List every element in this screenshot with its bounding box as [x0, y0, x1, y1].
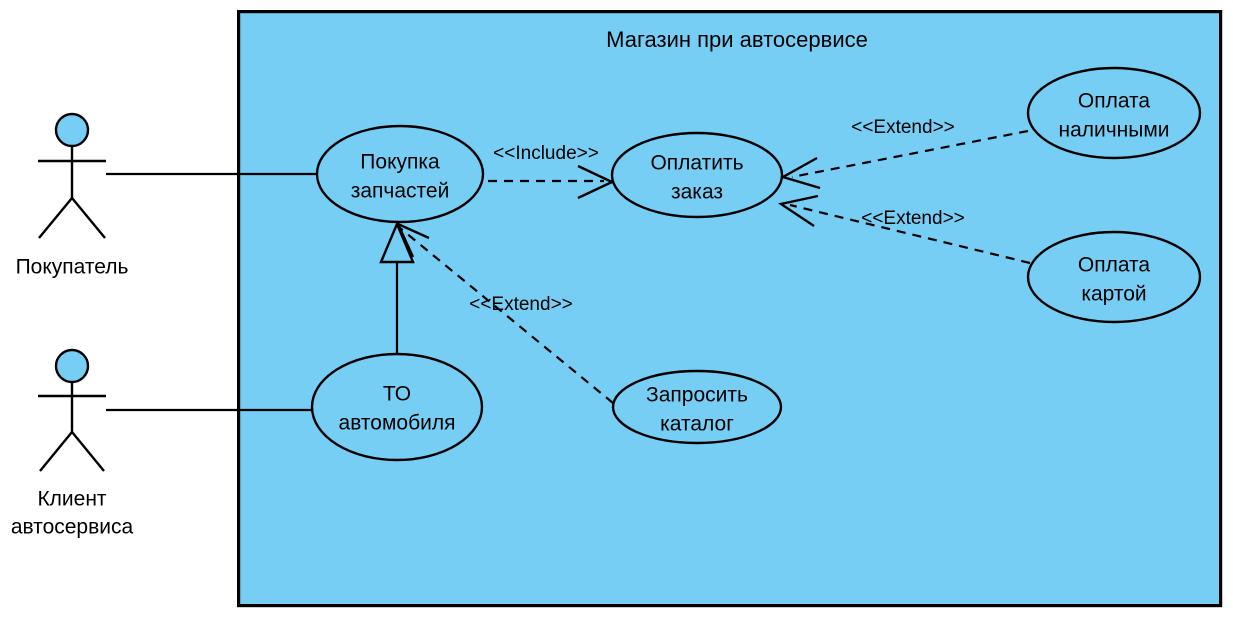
actor-service-client-label-line1: Клиент: [37, 488, 106, 511]
actor-service-client[interactable]: Клиент автосервиса: [11, 350, 134, 539]
use-case-buy-parts[interactable]: Покупка запчастей: [317, 126, 483, 222]
use-case-label-line1: Оплатить: [650, 152, 743, 175]
use-case-label-line1: Оплата: [1078, 254, 1151, 277]
include-stereotype-label: <<Include>>: [493, 143, 599, 164]
use-case-label-line2: каталог: [660, 413, 734, 436]
use-case-label-line2: автомобиля: [339, 412, 456, 435]
use-case-ellipse: [1028, 68, 1200, 158]
extend-card-stereotype-label: <<Extend>>: [861, 208, 965, 229]
use-case-label-line1: Покупка: [360, 151, 440, 174]
system-boundary-title: Магазин при автосервисе: [606, 27, 868, 52]
extend-catalog-stereotype-label: <<Extend>>: [469, 294, 573, 315]
use-case-label-line2: картой: [1081, 283, 1146, 306]
use-case-label-line2: наличными: [1058, 119, 1169, 142]
use-case-label-line1: Оплата: [1078, 90, 1151, 113]
use-case-pay-order[interactable]: Оплатить заказ: [612, 133, 782, 217]
use-case-label-line2: заказ: [671, 181, 723, 204]
actor-left-leg-line: [40, 432, 72, 471]
use-case-pay-card[interactable]: Оплата картой: [1028, 232, 1200, 322]
diagram-canvas: Магазин при автосервисе Покупатель Клиен…: [0, 0, 1233, 621]
use-case-request-catalog[interactable]: Запросить каталог: [613, 371, 781, 443]
use-case-ellipse: [1028, 232, 1200, 322]
use-case-ellipse: [317, 126, 483, 222]
actor-left-leg-line: [39, 198, 72, 238]
actor-right-leg-line: [72, 432, 104, 471]
use-case-label-line1: ТО: [383, 383, 411, 406]
actor-right-leg-line: [72, 198, 105, 238]
use-case-pay-cash[interactable]: Оплата наличными: [1028, 68, 1200, 158]
use-case-label-line1: Запросить: [646, 384, 748, 407]
actor-buyer[interactable]: Покупатель: [16, 114, 129, 279]
use-case-car-maintenance[interactable]: ТО автомобиля: [312, 354, 482, 460]
actor-head-icon: [56, 350, 88, 382]
use-case-label-line2: запчастей: [351, 180, 450, 203]
use-case-ellipse: [612, 133, 782, 217]
actor-buyer-label: Покупатель: [16, 256, 129, 279]
actor-service-client-label-line2: автосервиса: [11, 516, 134, 539]
extend-cash-stereotype-label: <<Extend>>: [851, 117, 955, 138]
actor-head-icon: [56, 114, 88, 146]
use-case-diagram: Магазин при автосервисе Покупатель Клиен…: [0, 0, 1233, 621]
use-case-ellipse: [312, 354, 482, 460]
